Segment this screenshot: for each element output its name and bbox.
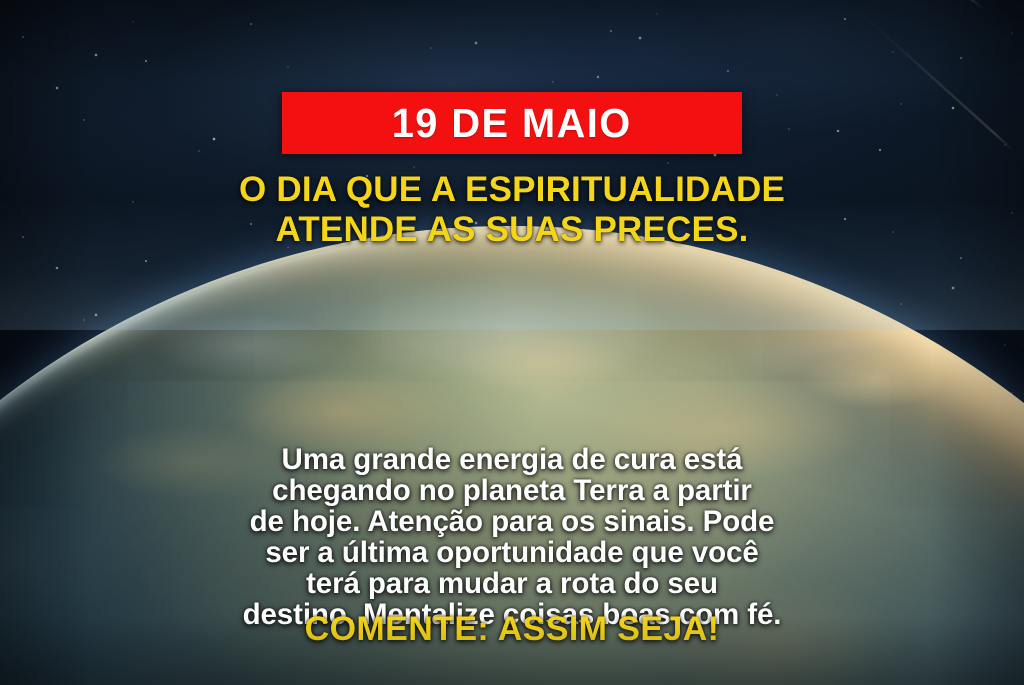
body-line-1: Uma grande energia de cura está [72, 444, 952, 475]
body-line-5: terá para mudar a rota do seu [72, 568, 952, 599]
headline: O DIA QUE A ESPIRITUALIDADE ATENDE AS SU… [72, 170, 952, 250]
body-line-2: chegando no planeta Terra a partir [72, 475, 952, 506]
call-to-action-text: COMENTE: ASSIM SEJA! [305, 612, 720, 646]
headline-line-1: O DIA QUE A ESPIRITUALIDADE [72, 170, 952, 210]
poster-content: 19 DE MAIO O DIA QUE A ESPIRITUALIDADE A… [0, 0, 1024, 685]
date-banner: 19 DE MAIO [282, 92, 742, 154]
headline-line-2: ATENDE AS SUAS PRECES. [72, 210, 952, 250]
body-line-4: ser a última oportunidade que você [72, 537, 952, 568]
date-banner-text: 19 DE MAIO [392, 103, 632, 144]
poster-image: 19 DE MAIO O DIA QUE A ESPIRITUALIDADE A… [0, 0, 1024, 685]
body-paragraph: Uma grande energia de cura está chegando… [72, 444, 952, 630]
body-line-3: de hoje. Atenção para os sinais. Pode [72, 506, 952, 537]
